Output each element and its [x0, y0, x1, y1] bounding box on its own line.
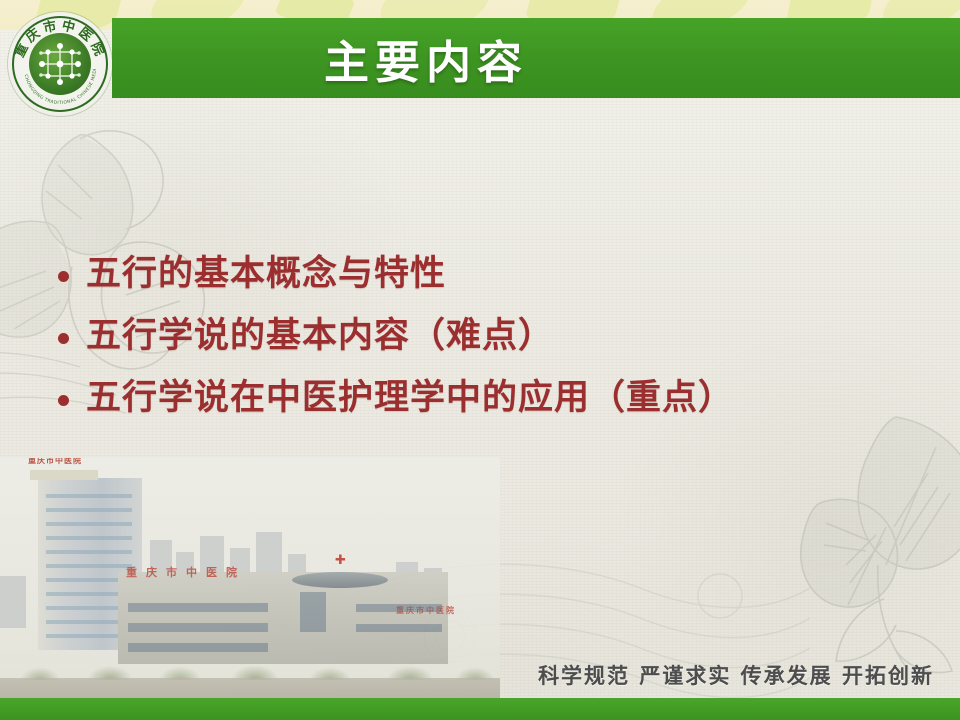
bullet-dot-icon	[58, 395, 69, 406]
hospital-photo: 重庆市中医院 ✚ 重庆市中医院 重庆市中医院	[0, 458, 500, 698]
bullet-text: 五行的基本概念与特性	[86, 252, 446, 296]
bullet-dot-icon	[58, 333, 69, 344]
list-item: 五行学说在中医护理学中的应用（重点）	[58, 376, 918, 420]
photo-entrance-canopy	[292, 572, 388, 588]
slide-canvas: 主要内容 重庆市中医院 CHONGQING TRADITIONAL CHINES…	[0, 0, 960, 720]
list-item: 五行学说的基本内容（难点）	[58, 314, 918, 358]
bullet-list: 五行的基本概念与特性 五行学说的基本内容（难点） 五行学说在中医护理学中的应用（…	[58, 252, 918, 438]
photo-treeline	[0, 646, 500, 680]
logo-node-network-icon	[8, 12, 112, 116]
hospital-logo: 重庆市中医院 CHONGQING TRADITIONAL CHINESE MED…	[8, 12, 112, 116]
photo-tower-sign: 重庆市中医院	[28, 458, 82, 466]
bullet-text: 五行学说的基本内容（难点）	[86, 314, 554, 358]
bottom-green-bar	[0, 698, 960, 720]
page-title: 主要内容	[112, 18, 960, 98]
photo-building-sign: 重庆市中医院	[126, 564, 246, 580]
list-item: 五行的基本概念与特性	[58, 252, 918, 296]
photo-foreground-road	[0, 678, 500, 698]
medical-cross-icon: ✚	[334, 553, 347, 566]
bullet-dot-icon	[58, 271, 69, 282]
footer-slogan: 科学规范 严谨求实 传承发展 开拓创新	[538, 660, 934, 690]
bullet-text: 五行学说在中医护理学中的应用（重点）	[86, 376, 734, 420]
photo-tower-cap	[30, 470, 98, 480]
header-banner: 主要内容	[112, 18, 960, 98]
